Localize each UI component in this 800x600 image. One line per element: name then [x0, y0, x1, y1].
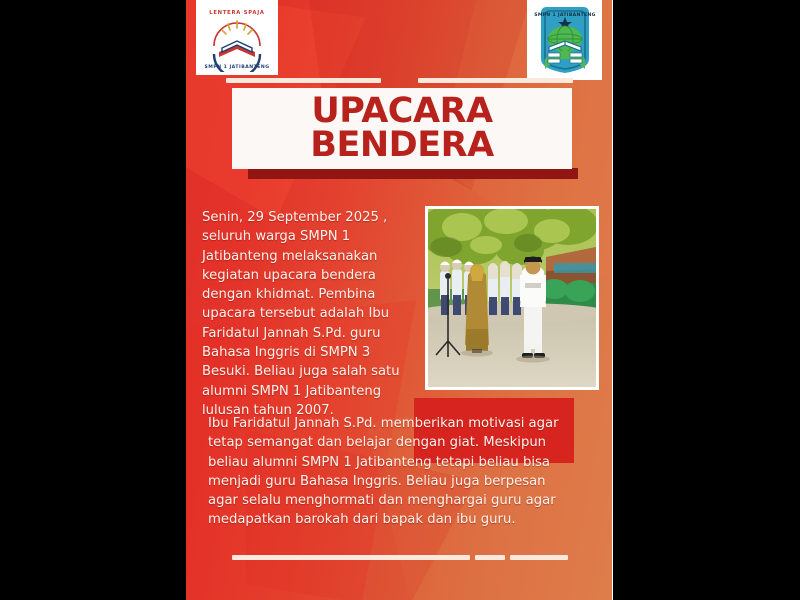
- poster-title: UPACARA BENDERA: [232, 88, 572, 169]
- title-line-2: BENDERA: [310, 129, 493, 163]
- title-line-1: UPACARA: [311, 95, 492, 129]
- school-logo-left: LENTERA SPAJA SMPN 1 JATIBANTENG: [196, 0, 278, 75]
- school-logo-right: SMPN 1 JATIBANTENG: [527, 0, 602, 80]
- bottom-divider: [232, 555, 568, 560]
- school-crest-icon: SMPN 1 JATIBANTENG: [531, 3, 599, 77]
- letterbox-left: [0, 0, 186, 600]
- flag-ceremony-photo: [428, 209, 596, 387]
- title-divider-dashes: [226, 78, 573, 83]
- paragraph-two: Ibu Faridatul Jannah S.Pd. memberikan mo…: [208, 414, 578, 530]
- title-dash-left: [226, 78, 381, 83]
- svg-text:SMPN 1 JATIBANTENG: SMPN 1 JATIBANTENG: [534, 12, 595, 18]
- letterbox-right: [613, 0, 800, 600]
- bottom-divider-segment: [475, 555, 505, 560]
- svg-text:SMPN 1 JATIBANTENG: SMPN 1 JATIBANTENG: [204, 64, 269, 70]
- flag-ceremony-illustration: [428, 209, 596, 387]
- poster-flag-ceremony: LENTERA SPAJA SMPN 1 JATIBANTENG: [186, 0, 613, 600]
- svg-text:LENTERA SPAJA: LENTERA SPAJA: [209, 10, 265, 16]
- bottom-divider-segment: [510, 555, 568, 560]
- microphone-head: [445, 273, 451, 279]
- screenshot-stage: LENTERA SPAJA SMPN 1 JATIBANTENG: [0, 0, 800, 600]
- lentera-spaja-logo-icon: LENTERA SPAJA SMPN 1 JATIBANTENG: [200, 4, 274, 72]
- title-shadow-bar: [248, 168, 578, 179]
- title-dash-right: [418, 78, 573, 83]
- paragraph-one: Senin, 29 September 2025 , seluruh warga…: [202, 208, 416, 420]
- bottom-divider-segment: [232, 555, 470, 560]
- photo-frame: [425, 206, 599, 390]
